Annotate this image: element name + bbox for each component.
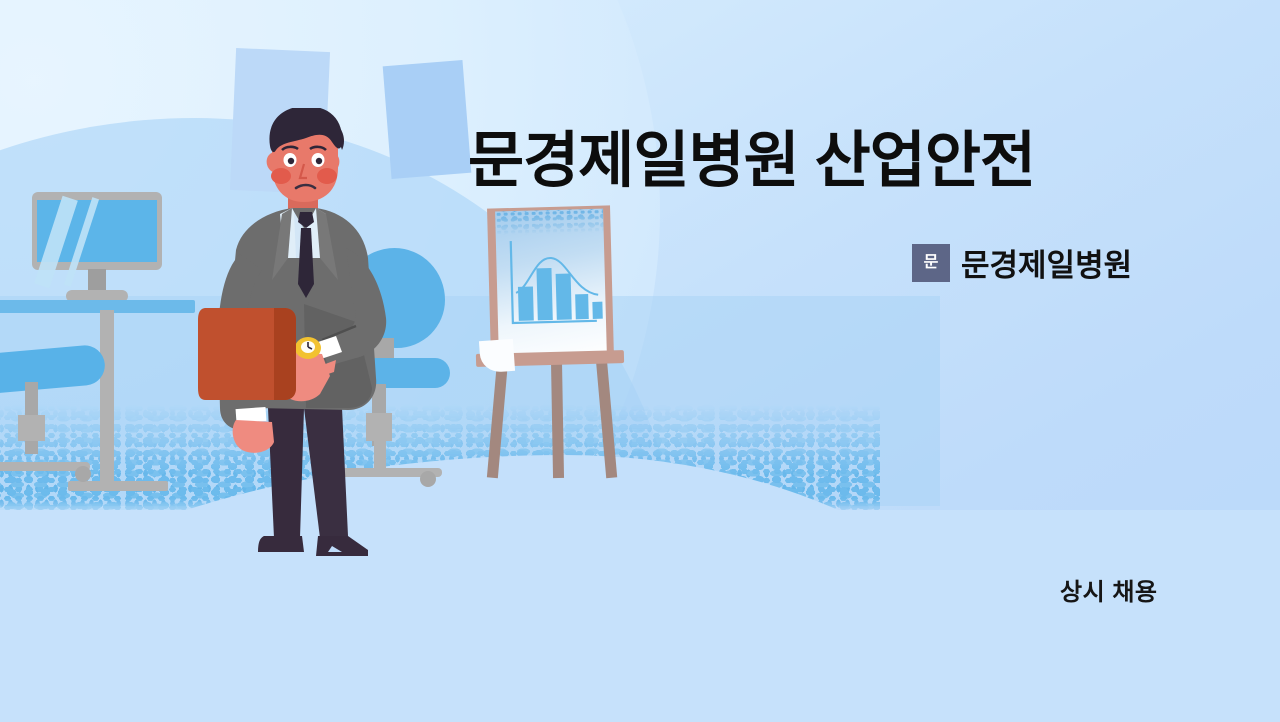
shoe-right	[316, 536, 368, 556]
trouser-right	[304, 408, 348, 538]
company-name: 문경제일병원	[961, 240, 1132, 285]
briefcase-side	[274, 308, 296, 400]
hand-left	[233, 420, 274, 453]
desk-leg	[100, 310, 114, 486]
page-title: 문경제일병원 산업안전	[468, 128, 1168, 194]
businessman-illustration	[196, 108, 416, 608]
office-chair-right-wheel	[420, 471, 436, 487]
cheek-right	[317, 168, 337, 184]
floor-foreground-fill	[0, 510, 1280, 722]
office-chair-left-wheel	[75, 466, 91, 482]
desk-top	[0, 300, 195, 313]
trouser-left	[268, 408, 304, 538]
easel-leg-middle	[551, 360, 564, 478]
company-logo-icon: 문	[912, 244, 950, 282]
company-row[interactable]: 문 문경제일병원	[912, 240, 1132, 285]
easel-board-speckle	[495, 209, 604, 236]
cheek-left	[271, 168, 291, 184]
desk-foot	[68, 481, 168, 491]
status-badge: 상시 채용	[1060, 572, 1158, 607]
office-chair-left-hub	[18, 415, 45, 441]
bar-chart-icon	[500, 236, 604, 347]
job-poster-banner: 문경제일병원 산업안전 문 문경제일병원 상시 채용	[0, 0, 1280, 722]
shoe-left	[258, 536, 304, 552]
